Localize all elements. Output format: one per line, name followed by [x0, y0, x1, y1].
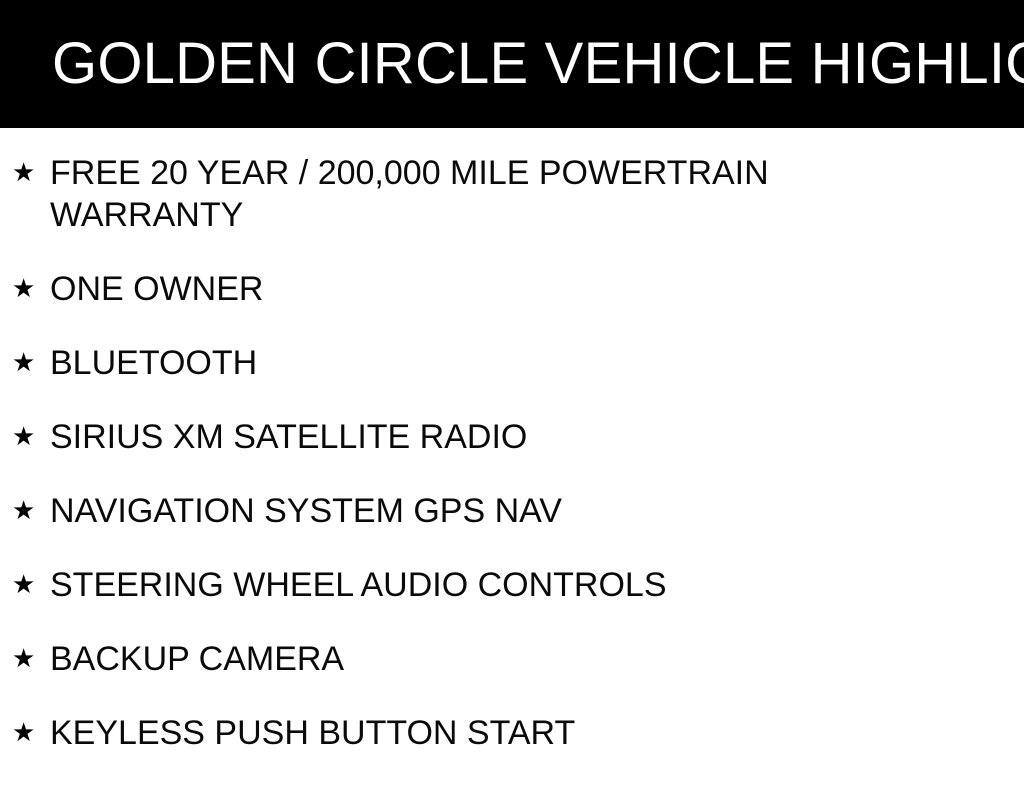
- highlight-text: STEERING WHEEL AUDIO CONTROLS: [50, 564, 850, 606]
- highlight-text: ONE OWNER: [50, 268, 850, 310]
- vehicle-highlights-page: GOLDEN CIRCLE VEHICLE HIGHLIGHTS ★ FREE …: [0, 0, 1024, 768]
- list-item: ★ FREE 20 YEAR / 200,000 MILE POWERTRAIN…: [0, 152, 1024, 236]
- star-bullet-icon: ★: [12, 268, 38, 310]
- highlight-text: FREE 20 YEAR / 200,000 MILE POWERTRAIN W…: [50, 152, 850, 236]
- list-item: ★ ONE OWNER: [0, 268, 1024, 310]
- vehicle-highlights-list: ★ FREE 20 YEAR / 200,000 MILE POWERTRAIN…: [0, 128, 1024, 786]
- highlight-text: BLUETOOTH: [50, 342, 850, 384]
- header-banner: GOLDEN CIRCLE VEHICLE HIGHLIGHTS: [0, 0, 1024, 128]
- highlight-text: NAVIGATION SYSTEM GPS NAV: [50, 490, 850, 532]
- star-bullet-icon: ★: [12, 564, 38, 606]
- list-item: ★ BLUETOOTH: [0, 342, 1024, 384]
- star-bullet-icon: ★: [12, 712, 38, 754]
- star-bullet-icon: ★: [12, 490, 38, 532]
- list-item: ★ KEYLESS PUSH BUTTON START: [0, 712, 1024, 754]
- list-item: ★ NAVIGATION SYSTEM GPS NAV: [0, 490, 1024, 532]
- star-bullet-icon: ★: [12, 342, 38, 384]
- list-item: ★ SIRIUS XM SATELLITE RADIO: [0, 416, 1024, 458]
- star-bullet-icon: ★: [12, 416, 38, 458]
- highlight-text: SIRIUS XM SATELLITE RADIO: [50, 416, 850, 458]
- list-item: ★ BACKUP CAMERA: [0, 638, 1024, 680]
- star-bullet-icon: ★: [12, 152, 38, 194]
- list-item: ★ STEERING WHEEL AUDIO CONTROLS: [0, 564, 1024, 606]
- highlight-text: KEYLESS PUSH BUTTON START: [50, 712, 850, 754]
- page-title: GOLDEN CIRCLE VEHICLE HIGHLIGHTS: [52, 34, 1024, 94]
- highlight-text: BACKUP CAMERA: [50, 638, 850, 680]
- star-bullet-icon: ★: [12, 638, 38, 680]
